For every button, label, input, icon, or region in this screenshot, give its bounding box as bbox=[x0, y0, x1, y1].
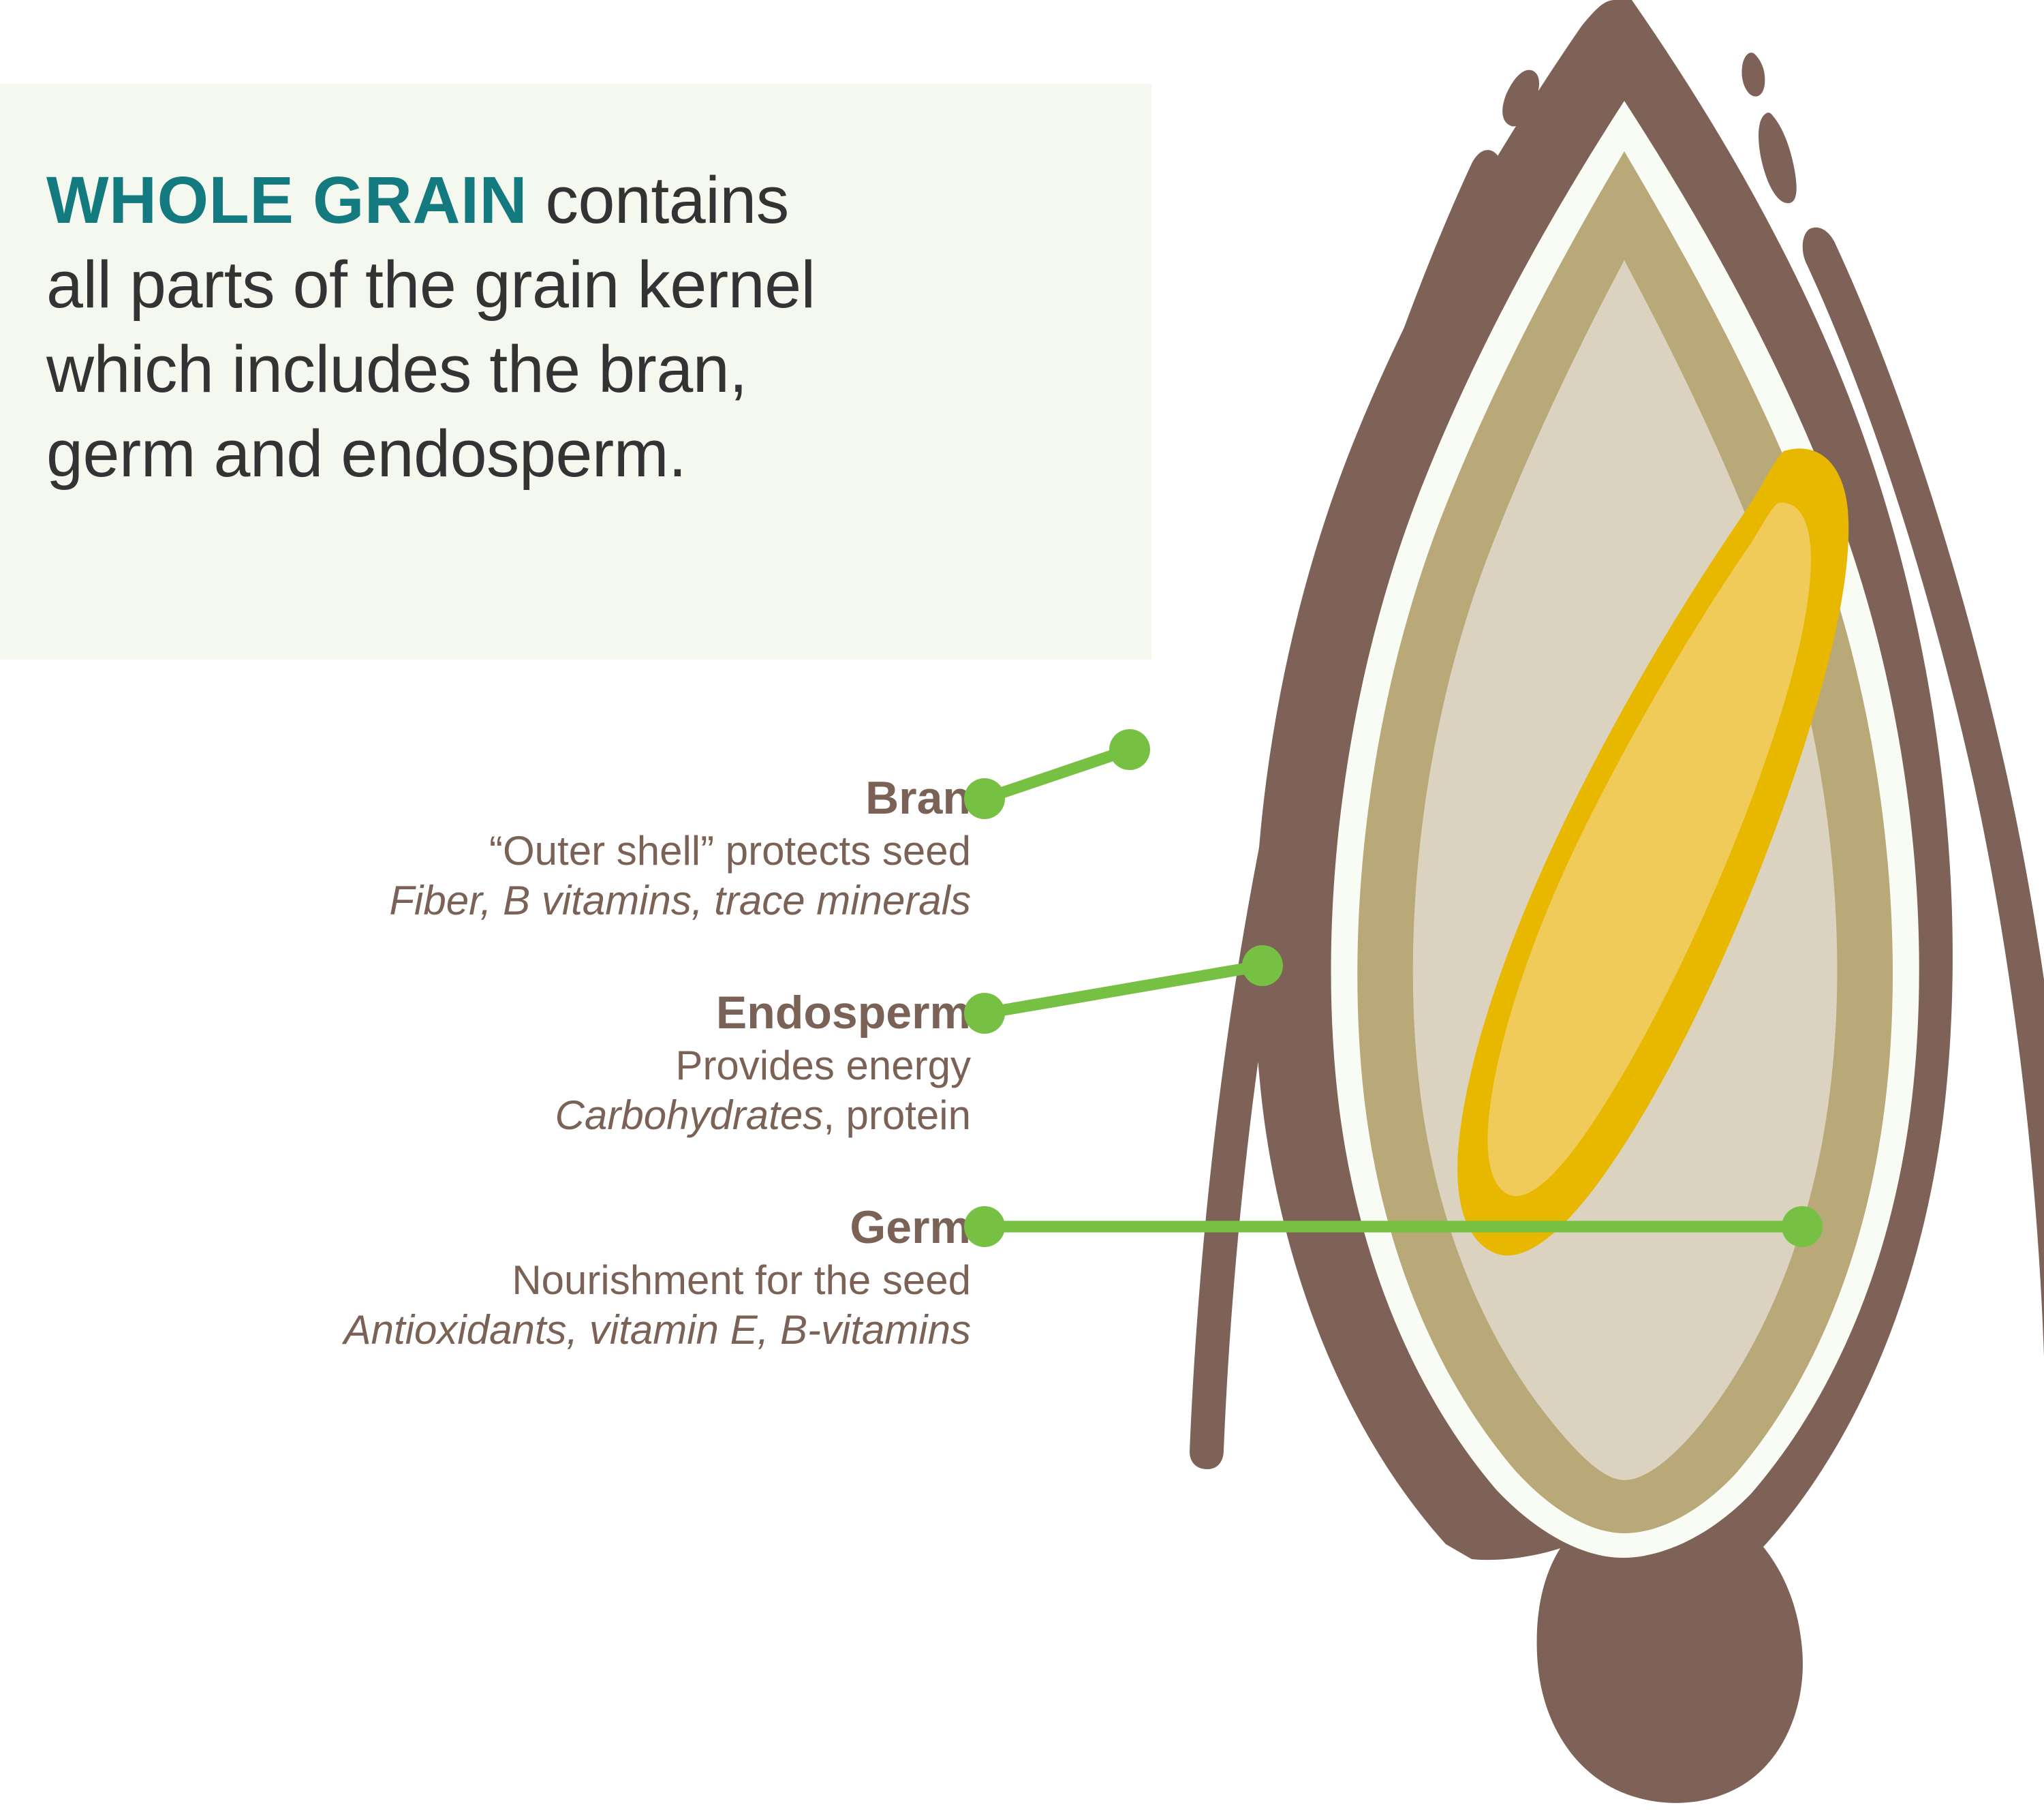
callout-endosperm-title: Endosperm bbox=[119, 985, 971, 1041]
headline-rest-text: contains bbox=[527, 163, 789, 237]
kernel-hair-right-dot-large bbox=[1759, 112, 1797, 203]
headline-text: WHOLE GRAIN contains all parts of the gr… bbox=[46, 158, 1109, 496]
callout-bran-nutrients: Fiber, B vitamins, trace minerals bbox=[119, 876, 971, 925]
kernel-hair-right-dot-small bbox=[1741, 52, 1765, 96]
callout-bran-title: Bran bbox=[119, 770, 971, 826]
callout-germ-nutrients: Antioxidants, vitamin E, B-vitamins bbox=[119, 1305, 971, 1355]
grain-kernel-illustration bbox=[1063, 0, 2044, 1814]
infographic-canvas: WHOLE GRAIN contains all parts of the gr… bbox=[0, 0, 2044, 1814]
headline-line-2: all parts of the grain kernel bbox=[46, 247, 816, 322]
callout-bran-description: “Outer shell” protects seed bbox=[119, 826, 971, 876]
headline-accent-text: WHOLE GRAIN bbox=[46, 163, 527, 237]
headline-line-4: germ and endosperm. bbox=[46, 416, 686, 491]
callout-endosperm: Endosperm Provides energy Carbohydrates,… bbox=[119, 985, 971, 1140]
callout-endosperm-nutrients-plain: , protein bbox=[823, 1092, 971, 1138]
callout-endosperm-description: Provides energy bbox=[119, 1041, 971, 1090]
callout-germ-description: Nourishment for the seed bbox=[119, 1255, 971, 1305]
callout-germ: Germ Nourishment for the seed Antioxidan… bbox=[119, 1199, 971, 1355]
headline-line-3: which includes the bran, bbox=[46, 332, 747, 406]
callout-endosperm-nutrients-italic: Carbohydrates bbox=[555, 1092, 824, 1138]
callout-bran: Bran “Outer shell” protects seed Fiber, … bbox=[119, 770, 971, 925]
callout-endosperm-nutrients: Carbohydrates, protein bbox=[119, 1090, 971, 1140]
callout-germ-title: Germ bbox=[119, 1199, 971, 1255]
